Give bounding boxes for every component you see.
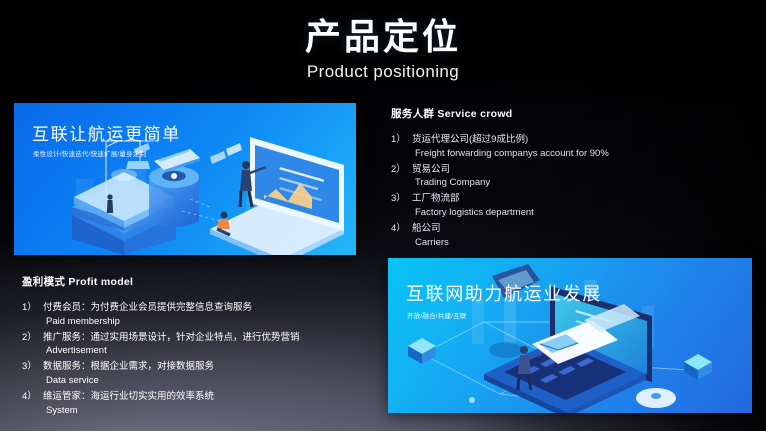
banner-card-top-left[interactable]: 互联让航运更简单 柔性设计/快速迭代/快速扩展/量身定制 — [14, 103, 356, 255]
node-right — [684, 354, 712, 380]
person-sitting — [217, 212, 230, 235]
item-text-en: System — [46, 405, 372, 418]
list-item: 1）付费会员：为付费企业会员提供完整信息查询服务 Paid membership — [22, 302, 372, 329]
banner-bottom-subtitle: 开放/融合/共建/互联 — [407, 310, 467, 320]
list-item: 1）货运代理公司(超过9成比例) Freight forwarding comp… — [391, 134, 751, 161]
profit-model-block: 盈利模式 Profit model 1）付费会员：为付费企业会员提供完整信息查询… — [22, 274, 372, 421]
item-text-en: Factory logistics department — [415, 207, 751, 220]
person-operator — [518, 346, 542, 390]
item-text-cn: 货运代理公司(超过9成比例) — [412, 134, 528, 147]
item-text-en: Data service — [46, 375, 372, 388]
item-number: 4） — [391, 223, 412, 236]
item-number: 1） — [391, 134, 412, 147]
item-text-cn: 付费会员：为付费企业会员提供完整信息查询服务 — [43, 302, 252, 315]
item-text-en: Advertisement — [46, 345, 372, 358]
item-text-cn: 维运管家：海运行业切实实用的效率系统 — [43, 391, 214, 404]
item-number: 2） — [22, 332, 43, 345]
page-title-en: Product positioning — [0, 62, 766, 82]
item-number: 1） — [22, 302, 43, 315]
item-text-en: Paid membership — [46, 316, 372, 329]
list-item: 4）维运管家：海运行业切实实用的效率系统 System — [22, 391, 372, 418]
item-text-en: Freight forwarding companys account for … — [415, 148, 751, 161]
list-item: 3）工厂物流部 Factory logistics department — [391, 193, 751, 220]
item-number: 2） — [391, 164, 412, 177]
item-text-cn: 船公司 — [412, 223, 441, 236]
service-crowd-block: 服务人群 Service crowd 1）货运代理公司(超过9成比例) Frei… — [391, 106, 751, 253]
profit-model-heading: 盈利模式 Profit model — [22, 274, 372, 289]
item-text-cn: 推广服务：通过实用场景设计，针对企业特点，进行优势营销 — [43, 332, 300, 345]
person-left — [107, 194, 113, 213]
service-crowd-heading: 服务人群 Service crowd — [391, 106, 751, 121]
item-text-en: Carriers — [415, 237, 751, 250]
banner-top-title: 互联让航运更简单 — [32, 120, 181, 145]
item-number: 3） — [391, 193, 412, 206]
presentation-slide: 产品定位 Product positioning — [0, 0, 766, 431]
item-text-en: Trading Company — [415, 177, 751, 190]
person-presenter — [240, 161, 266, 207]
banner-top-subtitle: 柔性设计/快速迭代/快速扩展/量身定制 — [33, 148, 146, 158]
list-item: 3）数据服务：根据企业需求，对接数据服务 Data service — [22, 361, 372, 388]
list-item: 2）推广服务：通过实用场景设计，针对企业特点，进行优势营销 Advertisem… — [22, 332, 372, 359]
slide-title-block: 产品定位 Product positioning — [0, 16, 766, 82]
item-text-cn: 数据服务：根据企业需求，对接数据服务 — [43, 361, 214, 374]
item-number: 3） — [22, 361, 43, 374]
item-text-cn: 贸易公司 — [412, 164, 450, 177]
banner-bottom-title: 互联网助力航运业发展 — [406, 280, 602, 306]
node-left — [408, 338, 436, 364]
page-title-cn: 产品定位 — [0, 16, 766, 58]
list-item: 2）贸易公司 Trading Company — [391, 164, 751, 191]
list-item: 4）船公司 Carriers — [391, 223, 751, 250]
banner-card-bottom-right[interactable]: 互联网助力航运业发展 开放/融合/共建/互联 — [388, 258, 752, 413]
item-number: 4） — [22, 391, 43, 404]
item-text-cn: 工厂物流部 — [412, 193, 460, 206]
